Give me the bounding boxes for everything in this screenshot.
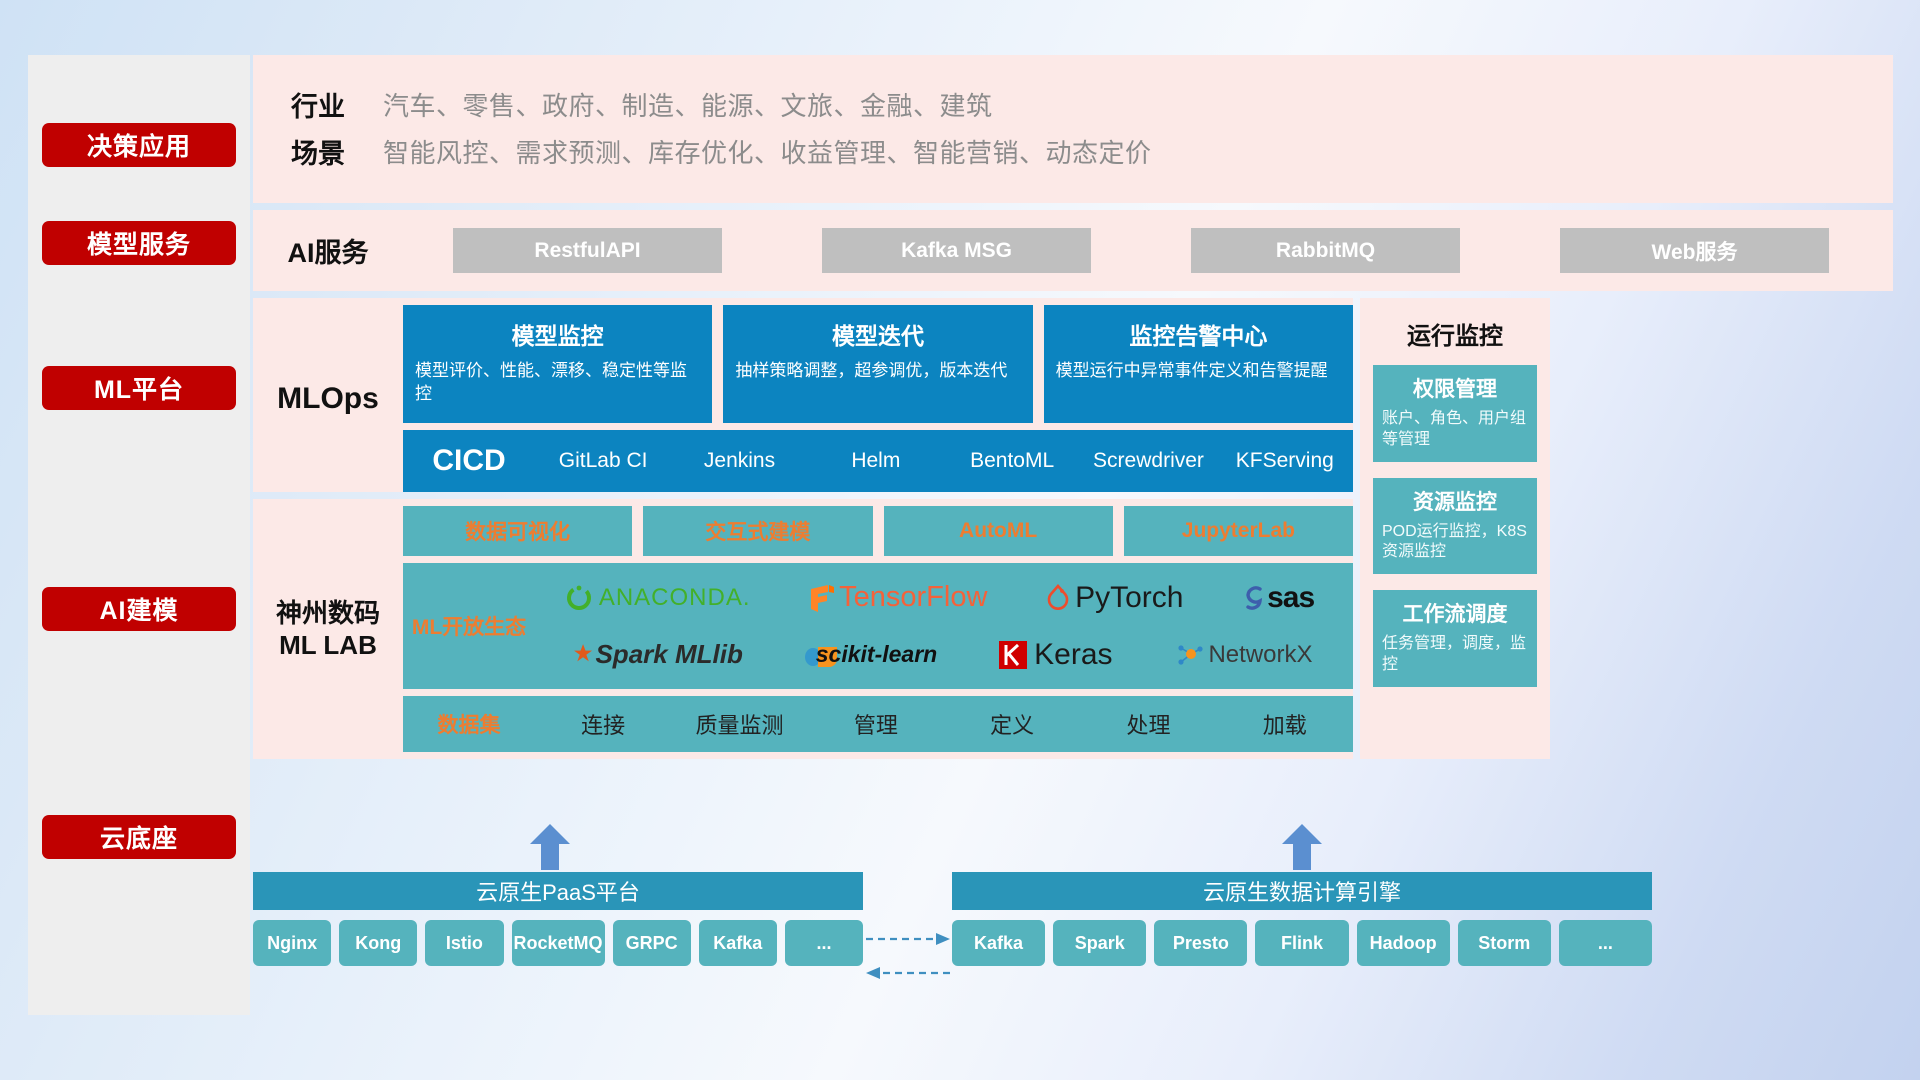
data-engine-title: 云原生数据计算引擎 <box>952 872 1652 910</box>
tensorflow-logo: TensorFlow <box>808 581 987 614</box>
cicd-title: CICD <box>403 444 535 478</box>
ml-open-ecosystem-logos: ANACONDA. TensorFlow PyTorch <box>535 563 1353 689</box>
mlops-card-model-iteration[interactable]: 模型迭代 抽样策略调整，超参调优，版本迭代 <box>723 305 1032 423</box>
dataset-item-connect[interactable]: 连接 <box>535 708 671 740</box>
pytorch-logo: PyTorch <box>1045 581 1183 615</box>
decision-application-band: 行业 汽车、零售、政府、制造、能源、文旅、金融、建筑 场景 智能风控、需求预测、… <box>253 55 1893 203</box>
card-title: 工作流调度 <box>1382 598 1528 628</box>
runtime-monitoring-band: 运行监控 权限管理 账户、角色、用户组等管理 资源监控 POD运行监控，K8S资… <box>1360 298 1550 759</box>
card-desc: 模型运行中异常事件定义和告警提醒 <box>1056 360 1341 383</box>
card-title: 资源监控 <box>1382 486 1528 516</box>
rail-item-ai-modeling[interactable]: AI建模 <box>42 587 236 631</box>
mlops-card-model-monitoring[interactable]: 模型监控 模型评价、性能、漂移、稳定性等监控 <box>403 305 712 423</box>
data-engine-chip-more[interactable]: ... <box>1559 920 1652 966</box>
cicd-strip: CICD GitLab CI Jenkins Helm BentoML Scre… <box>403 430 1353 492</box>
keras-logo-text: Keras <box>1034 638 1112 672</box>
logo-row-1: ANACONDA. TensorFlow PyTorch <box>535 569 1343 626</box>
paas-chip-list: Nginx Kong Istio RocketMQ GRPC Kafka ... <box>253 920 863 966</box>
mlops-label: MLOps <box>253 305 403 492</box>
paas-platform-title: 云原生PaaS平台 <box>253 872 863 910</box>
card-title: 模型迭代 <box>735 317 1020 351</box>
ai-service-chip-list: RestfulAPI Kafka MSG RabbitMQ Web服务 <box>403 228 1893 273</box>
ml-lab-tab-list: 数据可视化 交互式建模 AutoML JupyterLab <box>403 506 1353 556</box>
scenario-value: 智能风控、需求预测、库存优化、收益管理、智能营销、动态定价 <box>383 133 1152 170</box>
tab-data-visualization[interactable]: 数据可视化 <box>403 506 632 556</box>
sas-logo-text: sas <box>1267 581 1314 615</box>
scenario-key: 场景 <box>253 132 383 171</box>
mlops-content: 模型监控 模型评价、性能、漂移、稳定性等监控 模型迭代 抽样策略调整，超参调优，… <box>403 305 1353 492</box>
scikit-learn-logo-text: scikit-learn <box>816 641 937 668</box>
spark-mllib-logo-text: Spark MLlib <box>595 639 742 670</box>
card-desc: 抽样策略调整，超参调优，版本迭代 <box>735 360 1020 383</box>
ai-service-chip-rabbitmq[interactable]: RabbitMQ <box>1191 228 1460 273</box>
mlops-band: MLOps 模型监控 模型评价、性能、漂移、稳定性等监控 模型迭代 抽样策略调整… <box>253 298 1353 492</box>
industry-row: 行业 汽车、零售、政府、制造、能源、文旅、金融、建筑 <box>253 85 1893 124</box>
ai-service-band: AI服务 RestfulAPI Kafka MSG RabbitMQ Web服务 <box>253 210 1893 291</box>
cicd-item-helm[interactable]: Helm <box>808 450 944 472</box>
cicd-item-jenkins[interactable]: Jenkins <box>671 450 807 472</box>
scikit-learn-logo: scikit-learn <box>804 640 937 670</box>
mlops-card-list: 模型监控 模型评价、性能、漂移、稳定性等监控 模型迭代 抽样策略调整，超参调优，… <box>403 305 1353 423</box>
ai-service-chip-web[interactable]: Web服务 <box>1560 228 1829 273</box>
ml-lab-label-line2: ML LAB <box>279 629 377 662</box>
networkx-logo-text: NetworkX <box>1208 641 1312 669</box>
paas-chip-nginx[interactable]: Nginx <box>253 920 331 966</box>
dataset-item-process[interactable]: 处理 <box>1080 708 1216 740</box>
industry-value: 汽车、零售、政府、制造、能源、文旅、金融、建筑 <box>383 86 993 123</box>
ai-service-label: AI服务 <box>253 231 403 270</box>
dataset-row: 数据集 连接 质量监测 管理 定义 处理 加载 <box>403 696 1353 752</box>
pytorch-logo-text: PyTorch <box>1075 581 1183 615</box>
anaconda-logo: ANACONDA. <box>564 583 751 613</box>
card-desc: 账户、角色、用户组等管理 <box>1382 409 1528 451</box>
architecture-main: 行业 汽车、零售、政府、制造、能源、文旅、金融、建筑 场景 智能风控、需求预测、… <box>253 55 1893 759</box>
tab-interactive-modeling[interactable]: 交互式建模 <box>643 506 872 556</box>
ml-lab-content: 数据可视化 交互式建模 AutoML JupyterLab ML开放生态 ANA… <box>403 506 1353 752</box>
platform-column: MLOps 模型监控 模型评价、性能、漂移、稳定性等监控 模型迭代 抽样策略调整… <box>253 298 1353 759</box>
ml-lab-label-line1: 神州数码 <box>276 597 380 630</box>
arrow-up-icon-paas <box>528 824 572 870</box>
anaconda-logo-text: ANACONDA. <box>599 584 751 612</box>
data-engine-chip-hadoop[interactable]: Hadoop <box>1357 920 1450 966</box>
runtime-monitoring-column: 运行监控 权限管理 账户、角色、用户组等管理 资源监控 POD运行监控，K8S资… <box>1360 298 1550 759</box>
card-desc: 任务管理，调度，监控 <box>1382 634 1528 676</box>
paas-platform-group: 云原生PaaS平台 Nginx Kong Istio RocketMQ GRPC… <box>253 872 863 1032</box>
monitor-card-resource[interactable]: 资源监控 POD运行监控，K8S资源监控 <box>1373 478 1537 575</box>
ml-lab-label: 神州数码 ML LAB <box>253 506 403 752</box>
ai-service-chip-restfulapi[interactable]: RestfulAPI <box>453 228 722 273</box>
cloud-base-row: 云原生PaaS平台 Nginx Kong Istio RocketMQ GRPC… <box>253 872 1913 1032</box>
ai-modeling-band: 神州数码 ML LAB 数据可视化 交互式建模 AutoML JupyterLa… <box>253 499 1353 759</box>
ml-open-ecosystem-row: ML开放生态 ANACONDA. TensorFlow <box>403 563 1353 689</box>
card-title: 模型监控 <box>415 317 700 351</box>
dataset-item-manage[interactable]: 管理 <box>808 708 944 740</box>
platform-and-monitoring: MLOps 模型监控 模型评价、性能、漂移、稳定性等监控 模型迭代 抽样策略调整… <box>253 298 1893 759</box>
rail-item-label: AI建模 <box>99 591 178 627</box>
cicd-item-gitlab-ci[interactable]: GitLab CI <box>535 450 671 472</box>
runtime-monitoring-title: 运行监控 <box>1373 316 1537 351</box>
keras-logo: Keras <box>998 638 1112 672</box>
monitor-card-workflow[interactable]: 工作流调度 任务管理，调度，监控 <box>1373 590 1537 687</box>
rail-item-model-service[interactable]: 模型服务 <box>42 221 236 265</box>
mlops-card-alert-center[interactable]: 监控告警中心 模型运行中异常事件定义和告警提醒 <box>1044 305 1353 423</box>
rail-item-label: 模型服务 <box>87 225 191 261</box>
paas-chip-kafka[interactable]: Kafka <box>699 920 777 966</box>
paas-chip-kong[interactable]: Kong <box>339 920 417 966</box>
cicd-item-screwdriver[interactable]: Screwdriver <box>1080 450 1216 472</box>
paas-chip-istio[interactable]: Istio <box>425 920 503 966</box>
rail-item-label: 云底座 <box>100 819 178 855</box>
data-engine-group: 云原生数据计算引擎 Kafka Spark Presto Flink Hadoo… <box>952 872 1652 1032</box>
dataset-item-define[interactable]: 定义 <box>944 708 1080 740</box>
card-title: 权限管理 <box>1382 373 1528 403</box>
data-engine-chip-presto[interactable]: Presto <box>1154 920 1247 966</box>
tab-automl[interactable]: AutoML <box>884 506 1113 556</box>
paas-chip-grpc[interactable]: GRPC <box>613 920 691 966</box>
data-engine-chip-list: Kafka Spark Presto Flink Hadoop Storm ..… <box>952 920 1652 966</box>
paas-chip-more[interactable]: ... <box>785 920 863 966</box>
dataset-label: 数据集 <box>403 709 535 739</box>
ml-open-ecosystem-label: ML开放生态 <box>403 611 535 641</box>
data-engine-chip-storm[interactable]: Storm <box>1458 920 1551 966</box>
data-engine-chip-kafka[interactable]: Kafka <box>952 920 1045 966</box>
rail-item-ml-platform[interactable]: ML平台 <box>42 366 236 410</box>
card-desc: 模型评价、性能、漂移、稳定性等监控 <box>415 360 700 406</box>
stack-layer-rail: 决策应用 模型服务 ML平台 AI建模 云底座 <box>28 55 250 1015</box>
tab-jupyterlab[interactable]: JupyterLab <box>1124 506 1353 556</box>
networkx-logo: NetworkX <box>1173 640 1312 670</box>
arrow-up-icon-data-engine <box>1280 824 1324 870</box>
cicd-item-kfserving[interactable]: KFServing <box>1217 450 1353 472</box>
tensorflow-logo-text: TensorFlow <box>839 581 987 614</box>
rail-item-label: 决策应用 <box>87 127 191 163</box>
bidirectional-dashed-connector <box>864 925 952 987</box>
dataset-item-load[interactable]: 加载 <box>1217 708 1353 740</box>
sas-logo: sas <box>1241 581 1314 615</box>
logo-row-2: Spark MLlib scikit-learn Keras <box>535 626 1343 683</box>
cicd-item-bentoml[interactable]: BentoML <box>944 450 1080 472</box>
spark-mllib-logo: Spark MLlib <box>565 639 742 670</box>
card-desc: POD运行监控，K8S资源监控 <box>1382 522 1528 564</box>
data-engine-chip-spark[interactable]: Spark <box>1053 920 1146 966</box>
rail-item-cloud-base[interactable]: 云底座 <box>42 815 236 859</box>
rail-item-decision-app[interactable]: 决策应用 <box>42 123 236 167</box>
scenario-row: 场景 智能风控、需求预测、库存优化、收益管理、智能营销、动态定价 <box>253 132 1893 171</box>
industry-key: 行业 <box>253 85 383 124</box>
monitor-card-permission[interactable]: 权限管理 账户、角色、用户组等管理 <box>1373 365 1537 462</box>
paas-chip-rocketmq[interactable]: RocketMQ <box>512 920 605 966</box>
ai-service-chip-kafka-msg[interactable]: Kafka MSG <box>822 228 1091 273</box>
dataset-item-quality-monitoring[interactable]: 质量监测 <box>671 708 807 740</box>
rail-item-label: ML平台 <box>94 370 184 406</box>
card-title: 监控告警中心 <box>1056 317 1341 351</box>
data-engine-chip-flink[interactable]: Flink <box>1255 920 1348 966</box>
